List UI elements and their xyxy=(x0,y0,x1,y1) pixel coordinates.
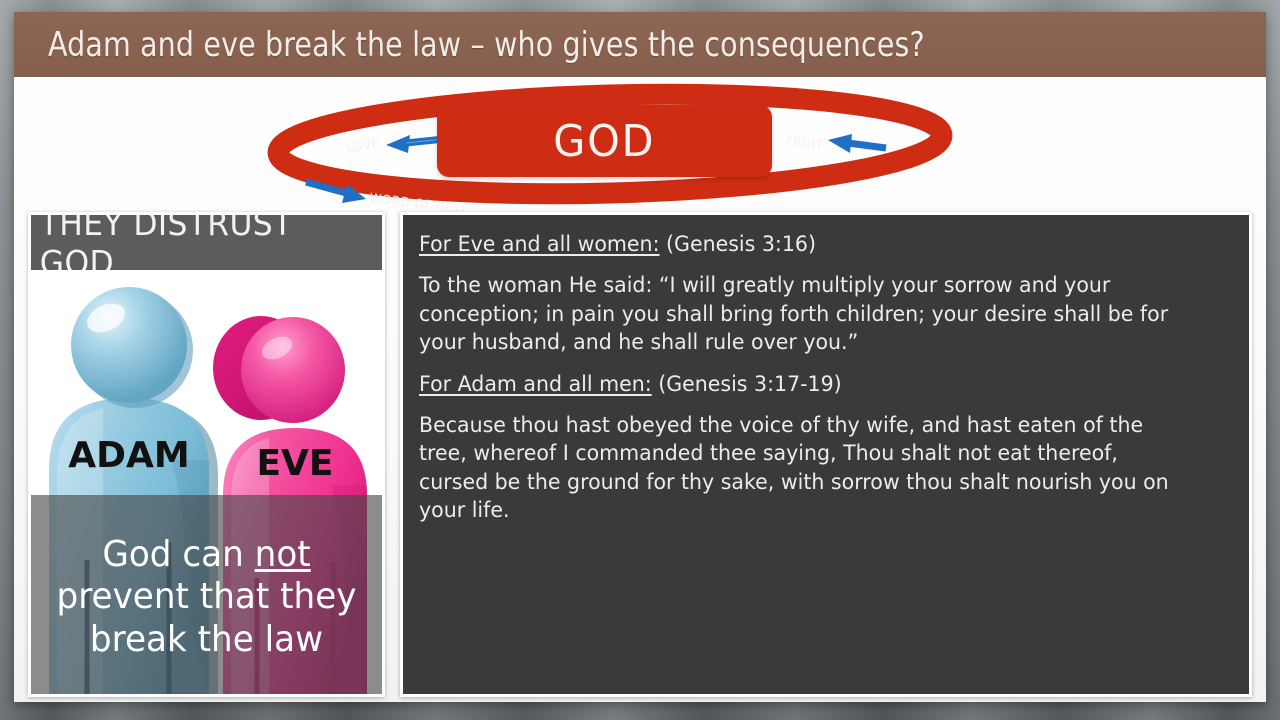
god-label: GOD xyxy=(553,116,655,167)
god-center-box: GOD xyxy=(437,105,772,177)
scripture-block-eve-heading: For Eve and all women: (Genesis 3:16) xyxy=(419,231,1193,259)
eve-label: EVE xyxy=(256,443,333,484)
right-text-panel: For Eve and all women: (Genesis 3:16) To… xyxy=(400,212,1252,697)
distrust-header-bar: THEY DISTRUST GOD xyxy=(31,215,382,270)
god-ring-diagram: GOD LOVE FRUIT WORD OF GOD xyxy=(14,77,1266,222)
adam-reference: (Genesis 3:17-19) xyxy=(652,372,842,397)
overlay-caption: God can not prevent that they break the … xyxy=(40,534,373,660)
scripture-block-adam-body: Because thou hast obeyed the voice of th… xyxy=(419,412,1193,526)
eve-reference: (Genesis 3:16) xyxy=(659,232,815,257)
scripture-block-eve-body: To the woman He said: “I will greatly mu… xyxy=(419,272,1193,357)
adam-eve-figures: ADAM EVE xyxy=(31,270,382,697)
love-arrow xyxy=(386,135,444,153)
scripture-block-adam-heading: For Adam and all men: (Genesis 3:17-19) xyxy=(419,371,1193,399)
eve-heading: For Eve and all women: xyxy=(419,232,659,257)
adam-label: ADAM xyxy=(68,435,189,476)
slide-canvas: Adam and eve break the law – who gives t… xyxy=(14,12,1266,702)
overlay-part1: God can xyxy=(102,534,254,575)
fruit-arrow xyxy=(828,134,886,153)
overlay-caption-band: God can not prevent that they break the … xyxy=(31,495,382,697)
adam-heading: For Adam and all men: xyxy=(419,372,652,397)
left-image-panel: THEY DISTRUST GOD xyxy=(28,212,385,697)
overlay-part2: prevent that they break the law xyxy=(57,576,357,659)
slide-title-bar: Adam and eve break the law – who gives t… xyxy=(14,12,1266,77)
overlay-emphasis: not xyxy=(255,534,311,575)
slide-title: Adam and eve break the law – who gives t… xyxy=(48,25,925,65)
